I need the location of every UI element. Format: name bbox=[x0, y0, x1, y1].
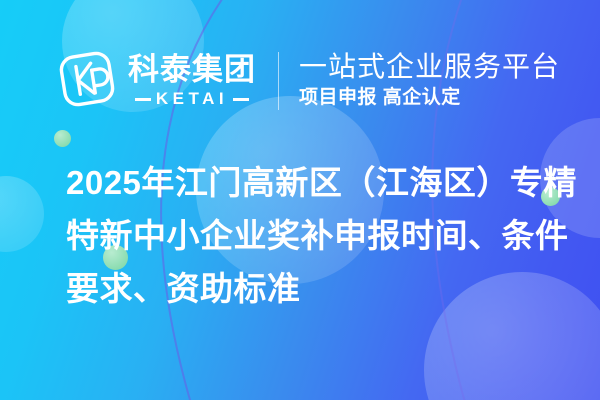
logo-latin-name: KETAI bbox=[156, 89, 228, 109]
title-line-2: 特新中小企业奖补申报时间、条件 bbox=[66, 209, 566, 262]
logo-latin-row: KETAI bbox=[135, 89, 249, 109]
banner-header: 科泰集团 KETAI 一站式企业服务平台 项目申报 高企认定 bbox=[0, 38, 600, 124]
promo-banner: 科泰集团 KETAI 一站式企业服务平台 项目申报 高企认定 2025年江门高新… bbox=[0, 0, 600, 400]
header-vertical-divider bbox=[278, 52, 279, 110]
logo-company-name: 科泰集团 bbox=[128, 53, 256, 86]
slogan-primary: 一站式企业服务平台 bbox=[299, 51, 560, 83]
ketai-kp-monogram-icon bbox=[56, 47, 118, 116]
logo-rule-left bbox=[135, 98, 151, 101]
title-line-3: 要求、资助标准 bbox=[66, 262, 566, 315]
decorative-circle-left-edge bbox=[0, 176, 44, 252]
banner-title: 2025年江门高新区（江海区）专精 特新中小企业奖补申报时间、条件 要求、资助标… bbox=[66, 156, 566, 315]
logo-rule-right bbox=[233, 98, 249, 101]
slogan-secondary: 项目申报 高企认定 bbox=[299, 86, 560, 111]
title-line-1: 2025年江门高新区（江海区）专精 bbox=[66, 156, 566, 209]
logo-wordmark: 科泰集团 KETAI bbox=[128, 53, 256, 109]
decorative-dot-green-upper-left bbox=[54, 130, 71, 147]
header-slogan-group: 一站式企业服务平台 项目申报 高企认定 bbox=[299, 51, 560, 111]
